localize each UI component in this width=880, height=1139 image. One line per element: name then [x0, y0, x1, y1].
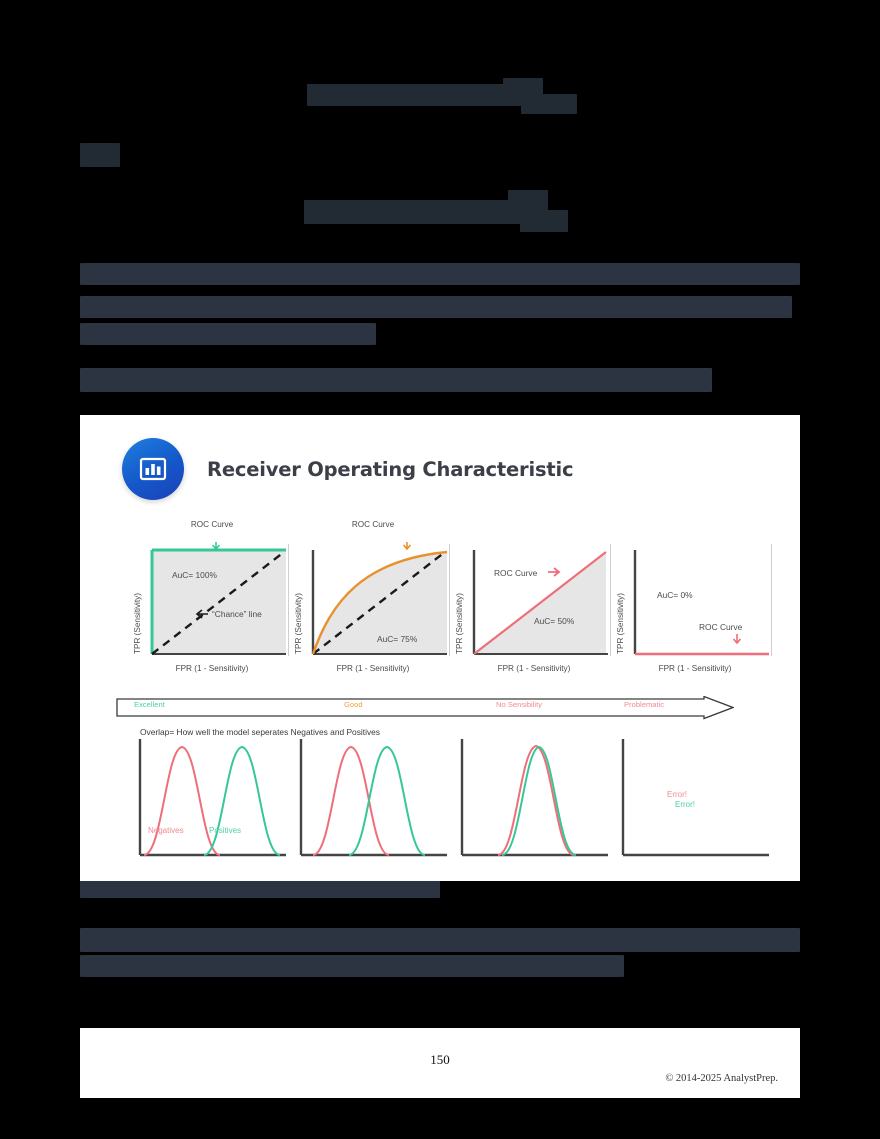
roc-xlabel-3: FPR (1 - Sensitivity) [619, 664, 771, 673]
roc-xlabel-2: FPR (1 - Sensitivity) [458, 664, 610, 673]
distribution-panel-row: Negatives Positives [108, 735, 772, 863]
copyright-notice: © 2014-2025 AnalystPrep. [665, 1073, 778, 1084]
redacted-text-block-7 [80, 263, 800, 285]
redacted-text-block-9 [80, 323, 376, 345]
redacted-text-block-13 [80, 955, 624, 977]
distribution-error-positives: Error! [675, 800, 695, 809]
distribution-label-negatives: Negatives [148, 826, 184, 835]
roc-panel-0: ROC Curve TPR (Sensitivity) AuC= 100% “C… [136, 520, 288, 685]
roc-panel-1: ROC Curve TPR (Sensitivity) AuC= 75% FPR… [297, 520, 449, 685]
distribution-error-negatives: Error! [667, 790, 687, 799]
roc-ylabel-2: TPR (Sensitivity) [455, 572, 464, 654]
redacted-text-block-2 [521, 94, 577, 114]
roc-ylabel-1: TPR (Sensitivity) [294, 572, 303, 654]
redacted-text-block-6 [520, 210, 568, 232]
redacted-text-block-12 [80, 928, 800, 952]
distribution-panel-0: Negatives Positives [136, 735, 288, 863]
redacted-text-block-3 [80, 143, 120, 167]
roc-ylabel-3: TPR (Sensitivity) [616, 572, 625, 654]
roc-auc-label-2: AuC= 50% [534, 616, 575, 626]
distribution-panel-3: Error! Error! [619, 735, 771, 863]
quality-scale-bar: Excellent Good No Sensibility Problemati… [116, 696, 734, 720]
roc-slide-card: Receiver Operating Characteristic ROC Cu… [80, 415, 800, 881]
scale-segment-0: Excellent [134, 700, 165, 709]
roc-ylabel-0: TPR (Sensitivity) [133, 572, 142, 654]
page-number: 150 [80, 1052, 800, 1068]
roc-auc-label-1: AuC= 75% [377, 634, 418, 644]
roc-chance-annotation-0: “Chance” line [212, 609, 262, 619]
roc-panel-row: ROC Curve TPR (Sensitivity) AuC= 100% “C… [108, 520, 772, 685]
redacted-text-block-4 [304, 200, 538, 224]
slide-header: Receiver Operating Characteristic [122, 438, 573, 500]
roc-curve-label-3: ROC Curve [699, 622, 743, 632]
scale-segment-1: Good [344, 700, 363, 709]
roc-curve-label-2: ROC Curve [494, 568, 538, 578]
distribution-label-positives: Positives [209, 826, 241, 835]
bar-chart-icon [122, 438, 184, 500]
roc-auc-label-3: AuC= 0% [657, 590, 693, 600]
redacted-text-block-8 [80, 296, 792, 318]
roc-panel-2: TPR (Sensitivity) ROC Curve AuC= 50% FPR… [458, 520, 610, 685]
distribution-panel-2 [458, 735, 610, 863]
redacted-text-block-5 [508, 190, 548, 210]
scale-segment-2: No Sensibility [496, 700, 542, 709]
distribution-panel-1 [297, 735, 449, 863]
page-footer: 150 © 2014-2025 AnalystPrep. [80, 1028, 800, 1098]
roc-xlabel-0: FPR (1 - Sensitivity) [136, 664, 288, 673]
roc-curve-label-1: ROC Curve [297, 520, 449, 529]
roc-curve-label-0: ROC Curve [136, 520, 288, 529]
roc-panel-3: TPR (Sensitivity) AuC= 0% ROC Curve FPR … [619, 520, 771, 685]
scale-segment-3: Problematic [624, 700, 664, 709]
roc-auc-label-0: AuC= 100% [172, 570, 217, 580]
redacted-text-block-10 [80, 368, 712, 392]
page-title: Receiver Operating Characteristic [207, 458, 573, 481]
roc-xlabel-1: FPR (1 - Sensitivity) [297, 664, 449, 673]
